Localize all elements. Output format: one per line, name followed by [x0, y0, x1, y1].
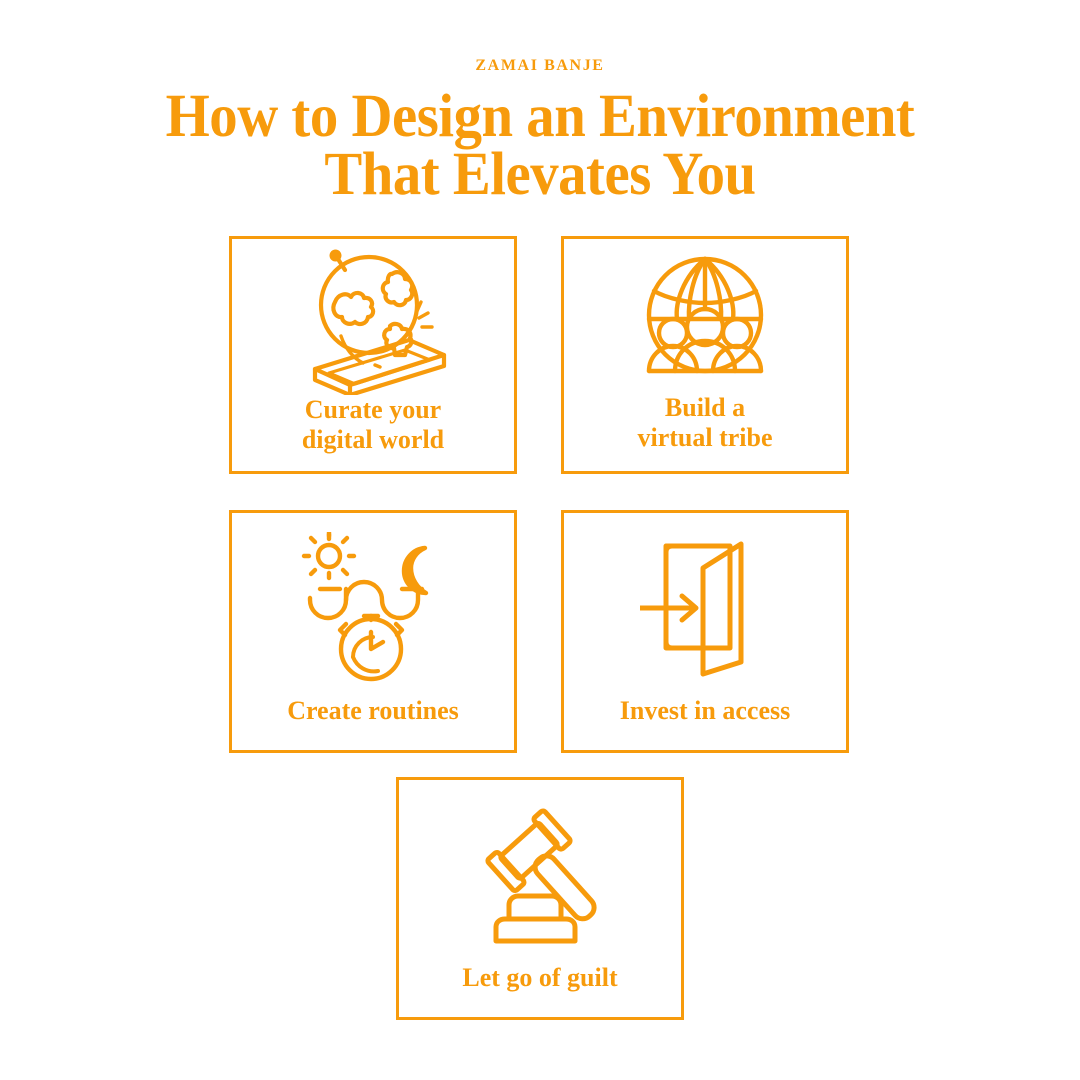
page-title-line-2: That Elevates You [38, 146, 1042, 204]
globe-people-group-icon [630, 249, 780, 389]
icon-container [232, 513, 514, 696]
open-door-arrow-icon [640, 536, 770, 680]
gavel-icon [465, 805, 615, 945]
row-spacer [229, 474, 849, 510]
cards-row-3: Let go of guilt [396, 777, 684, 1020]
icon-container [399, 780, 681, 963]
cards-row-1: Curate your digital world [229, 236, 849, 474]
card-label: Create routines [232, 696, 514, 750]
card-curate-digital-world[interactable]: Curate your digital world [229, 236, 517, 474]
card-build-virtual-tribe[interactable]: Build a virtual tribe [561, 236, 849, 474]
icon-container [564, 239, 846, 393]
infographic-page: ZAMAI BANJE How to Design an Environment… [0, 0, 1080, 1080]
page-title: How to Design an Environment That Elevat… [38, 88, 1042, 204]
sun-moon-stopwatch-icon [298, 532, 448, 684]
card-invest-in-access[interactable]: Invest in access [561, 510, 849, 753]
cards-row-2: Create routines [229, 510, 849, 753]
card-let-go-of-guilt[interactable]: Let go of guilt [396, 777, 684, 1020]
card-label: Invest in access [564, 696, 846, 750]
icon-container [232, 239, 514, 395]
brand-name: ZAMAI BANJE [0, 57, 1080, 75]
page-title-line-1: How to Design an Environment [38, 88, 1042, 146]
card-create-routines[interactable]: Create routines [229, 510, 517, 753]
card-label: Curate your digital world [232, 395, 514, 473]
card-label: Build a virtual tribe [564, 393, 846, 471]
cards-grid: Curate your digital world [229, 236, 849, 753]
icon-container [564, 513, 846, 696]
globe-on-stand-icon [289, 245, 457, 395]
card-label: Let go of guilt [399, 963, 681, 1017]
